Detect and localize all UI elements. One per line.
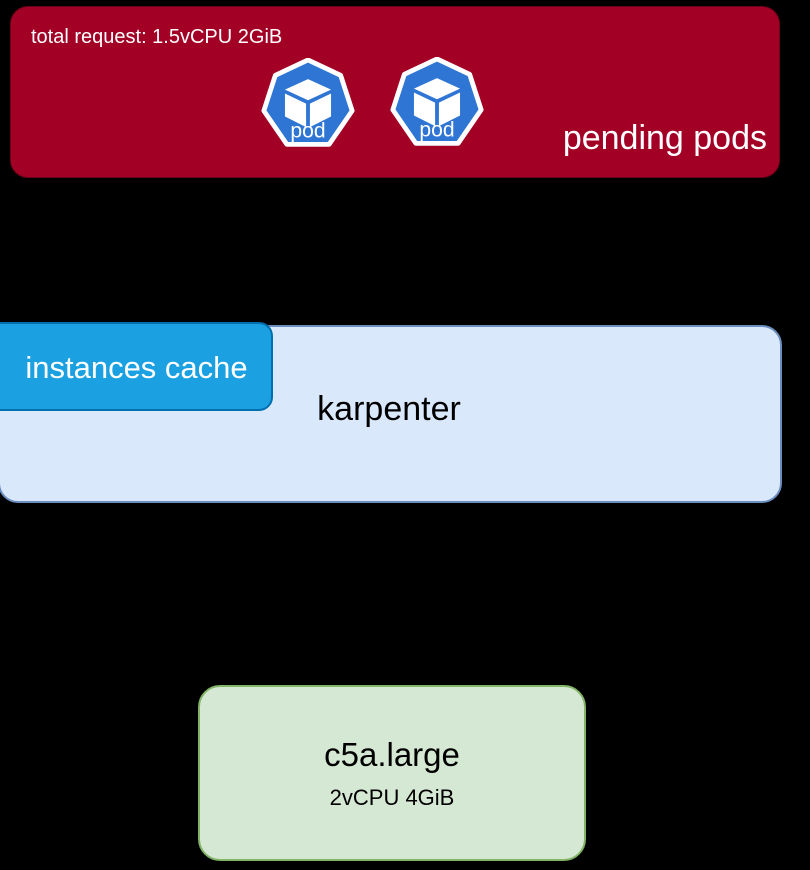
kubernetes-pod-icon[interactable]: pod (260, 58, 356, 154)
karpenter-title-text: karpenter (317, 388, 461, 430)
instance-type-specs: 2vCPU 4GiB (198, 784, 586, 811)
total-request-label: total request: 1.5vCPU 2GiB (31, 25, 282, 49)
kubernetes-pod-icon[interactable]: pod (389, 57, 485, 153)
diagram-canvas: total request: 1.5vCPU 2GiB pending pods… (0, 0, 810, 870)
pod-icon-label: pod (290, 120, 325, 143)
pending-pods-title: pending pods (563, 117, 767, 159)
instances-cache-label-wrap: instances cache (0, 350, 273, 386)
instance-type-name: c5a.large (198, 735, 586, 775)
pod-icon-label: pod (419, 119, 454, 142)
instances-cache-label: instances cache (25, 350, 247, 386)
